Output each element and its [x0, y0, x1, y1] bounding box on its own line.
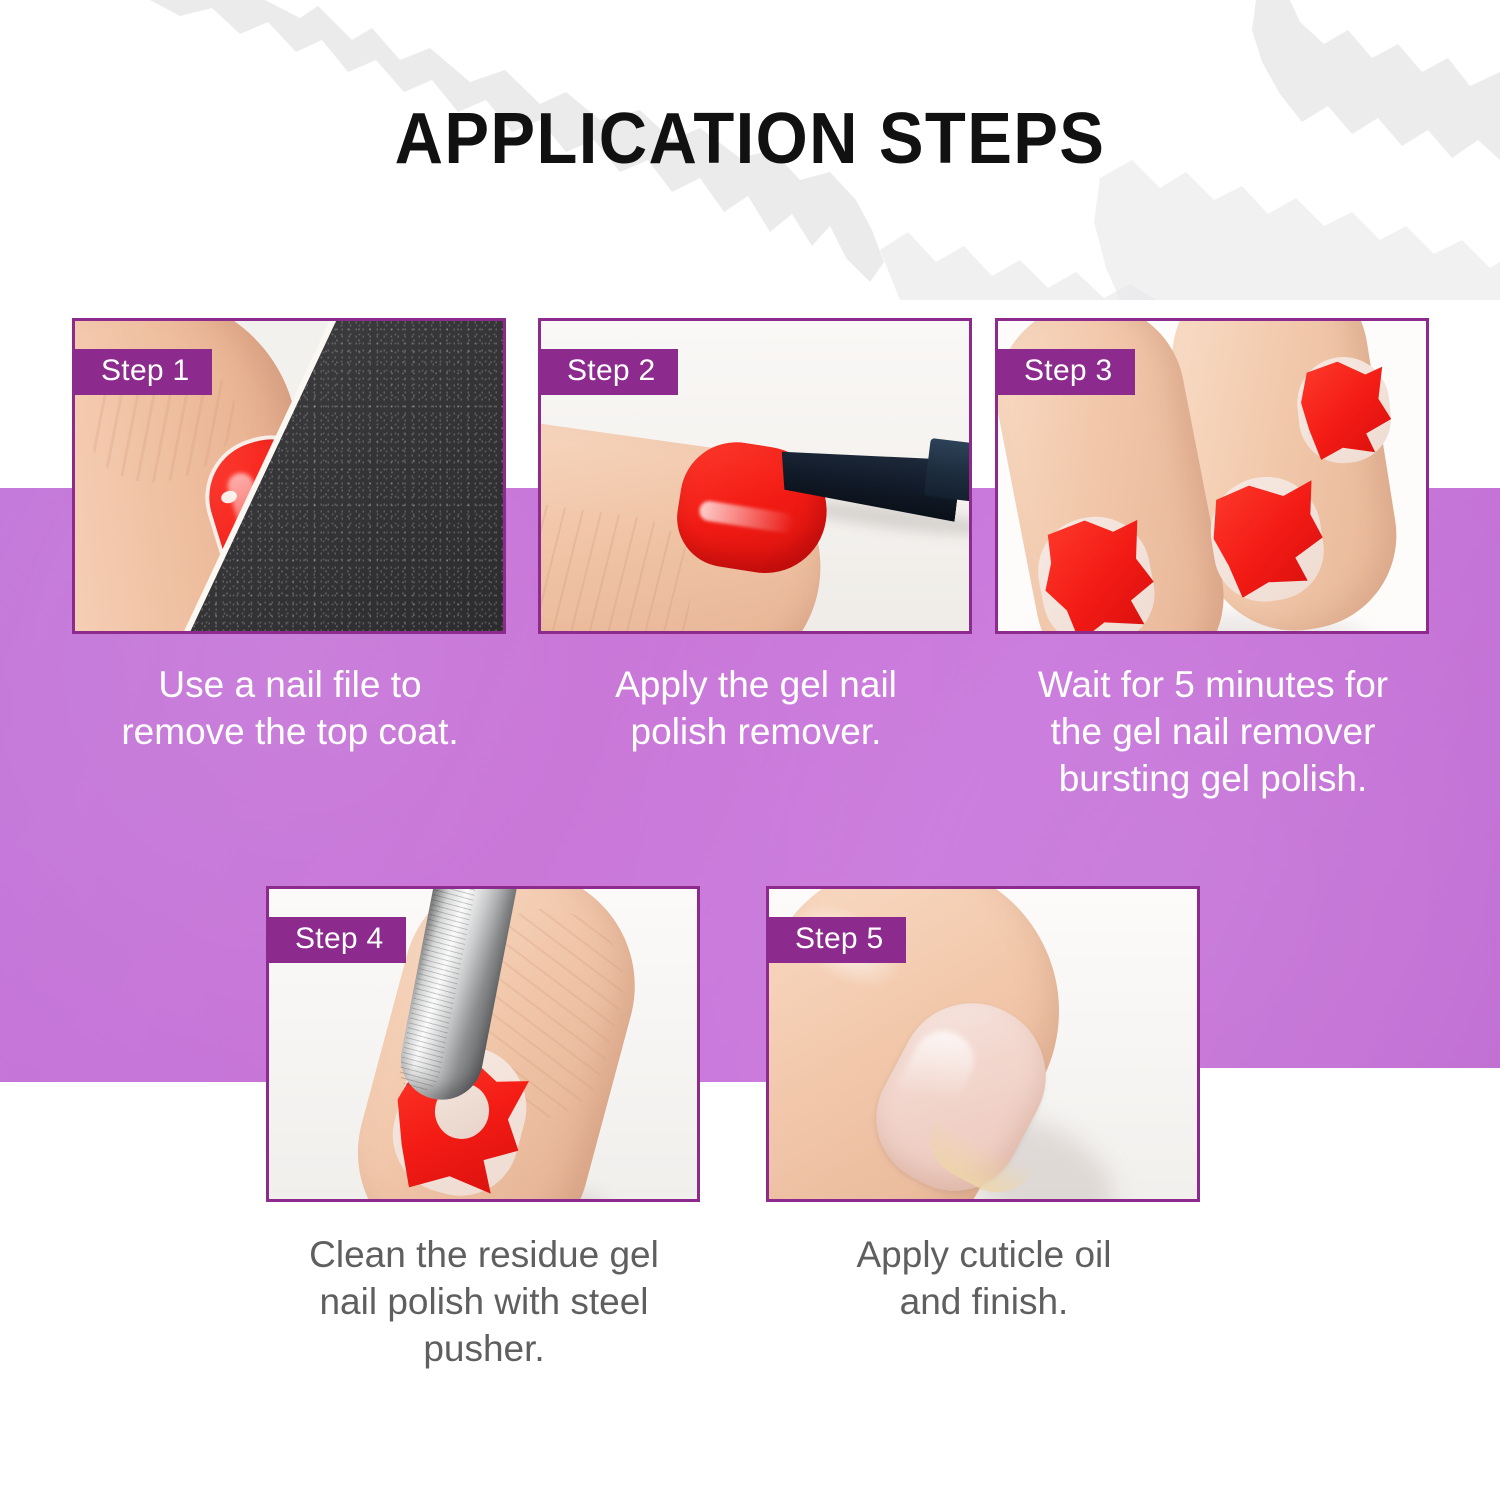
step-3-caption: Wait for 5 minutes for the gel nail remo… — [985, 662, 1441, 803]
step-card-2[interactable]: Step 2 — [538, 318, 972, 634]
step-1-caption: Use a nail file to remove the top coat. — [62, 662, 518, 756]
step-5-badge: Step 5 — [769, 917, 906, 963]
step-4-caption: Clean the residue gel nail polish with s… — [256, 1232, 712, 1373]
infographic-page: APPLICATION STEPS Step 1 Use a nail file… — [0, 0, 1500, 1500]
step-2-caption: Apply the gel nail polish remover. — [528, 662, 984, 756]
step-card-1[interactable]: Step 1 — [72, 318, 506, 634]
step-1-badge: Step 1 — [75, 349, 212, 395]
step-5-caption: Apply cuticle oil and finish. — [756, 1232, 1212, 1326]
page-title: APPLICATION STEPS — [53, 98, 1448, 180]
step-4-badge: Step 4 — [269, 917, 406, 963]
step-card-5[interactable]: Step 5 — [766, 886, 1200, 1202]
step-card-3[interactable]: Step 3 — [995, 318, 1429, 634]
step-2-badge: Step 2 — [541, 349, 678, 395]
step-card-4[interactable]: Step 4 — [266, 886, 700, 1202]
step-3-badge: Step 3 — [998, 349, 1135, 395]
